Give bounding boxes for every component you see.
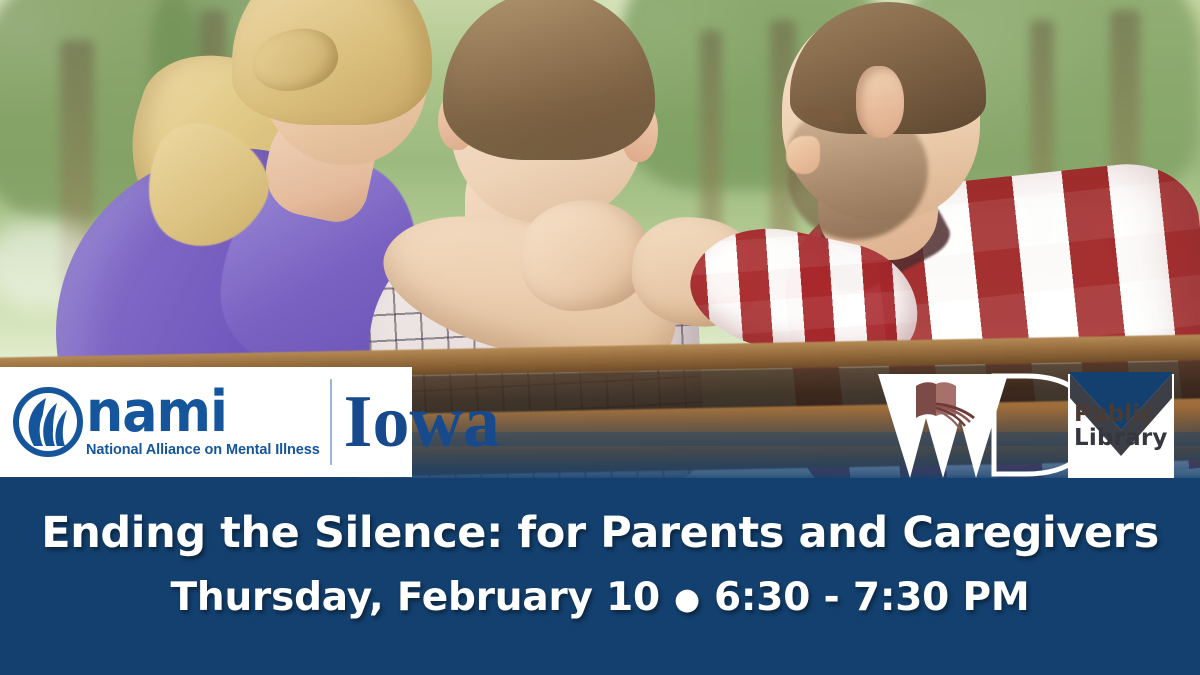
wdm-line-public: Public [1074, 402, 1174, 426]
nami-iowa-logo: nami National Alliance on Mental Illness… [0, 367, 412, 477]
event-title: Ending the Silence: for Parents and Care… [0, 508, 1200, 558]
wdm-library-name: Public Library [1074, 402, 1174, 451]
teen-hair [443, 0, 655, 160]
event-datetime: Thursday, February 10●6:30 - 7:30 PM [0, 575, 1200, 620]
nami-state-name: Iowa [344, 385, 500, 459]
event-promo-poster: nami National Alliance on Mental Illness… [0, 0, 1200, 675]
event-date: Thursday, February 10 [171, 575, 660, 620]
nami-wordmark-block: nami National Alliance on Mental Illness [86, 386, 320, 458]
man-ear [856, 66, 904, 138]
bullet-separator-icon: ● [674, 582, 700, 617]
nami-flame-circle-icon [12, 386, 84, 458]
wdm-public-library-logo: Public Library [878, 372, 1174, 478]
event-time: 6:30 - 7:30 PM [714, 575, 1030, 620]
man-nose [786, 136, 820, 174]
wdm-line-library: Library [1074, 426, 1174, 450]
nami-wordmark: nami [86, 386, 324, 438]
logo-divider [330, 379, 332, 465]
